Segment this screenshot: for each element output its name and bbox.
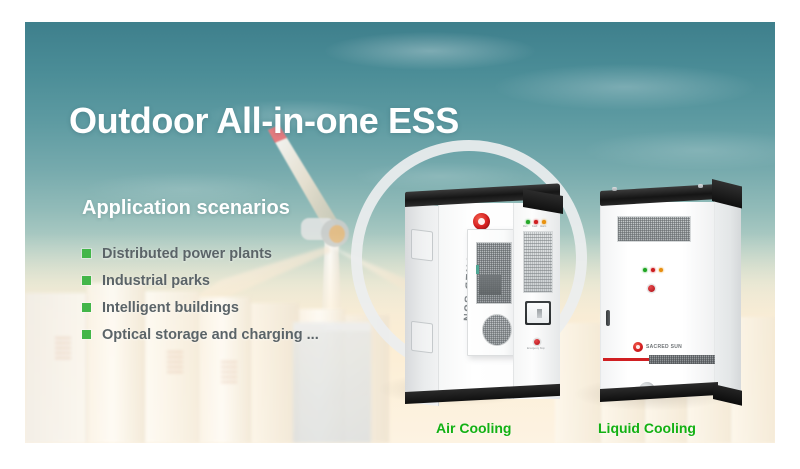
- status-led-fault: [651, 268, 655, 272]
- emergency-stop-button[interactable]: [534, 339, 540, 345]
- led-label-fault: Fault: [532, 225, 537, 228]
- status-led-run: [526, 220, 530, 224]
- product-label-air-cooling: Air Cooling: [436, 420, 511, 436]
- bullet-square-icon: [82, 249, 91, 258]
- cloud-decoration: [495, 64, 755, 110]
- list-item-label: Optical storage and charging ...: [102, 327, 319, 343]
- status-led-alarm: [542, 220, 546, 224]
- led-label-run: Run: [523, 225, 527, 228]
- product-banner: SACRED SUN Run Fault Alarm: [25, 22, 775, 443]
- list-item: Intelligent buildings: [82, 294, 319, 321]
- list-item-label: Distributed power plants: [102, 246, 272, 262]
- liquid-cabinet-vent-grille: [617, 216, 691, 242]
- bullet-square-icon: [82, 330, 91, 339]
- lifting-bolt-icon: [698, 184, 703, 188]
- air-cabinet-side-panel: [405, 202, 439, 406]
- cloud-decoration: [585, 130, 775, 170]
- list-item: Distributed power plants: [82, 240, 319, 267]
- liquid-cabinet-front-body: SACRED SUN: [600, 202, 715, 392]
- product-liquid-cooling-cabinet[interactable]: SACRED SUN: [600, 185, 740, 407]
- sacred-sun-logo-icon: [473, 213, 490, 230]
- ac-fan-icon: [482, 314, 512, 346]
- cloud-decoration: [325, 32, 535, 70]
- liquid-cabinet-brand-text: SACRED SUN: [646, 344, 682, 350]
- list-item: Industrial parks: [82, 267, 319, 294]
- lifting-bolt-icon: [612, 187, 617, 191]
- air-cabinet-display-screen[interactable]: [525, 301, 551, 325]
- status-led-alarm: [659, 268, 663, 272]
- bullet-square-icon: [82, 276, 91, 285]
- sacred-sun-logo-icon: [633, 342, 643, 352]
- page-title: Outdoor All-in-one ESS: [69, 100, 459, 142]
- emergency-stop-label: Emergency Stop: [527, 347, 545, 350]
- liquid-cabinet-door-handle[interactable]: [606, 310, 610, 326]
- air-cabinet-vent-grille: [523, 231, 553, 293]
- bullet-square-icon: [82, 303, 91, 312]
- liquid-cabinet-lower-vent: [649, 355, 715, 364]
- section-subtitle: Application scenarios: [82, 197, 290, 220]
- led-label-alarm: Alarm: [540, 225, 546, 228]
- list-item-label: Industrial parks: [102, 273, 210, 289]
- ac-grille-icon: [476, 242, 512, 304]
- product-label-liquid-cooling: Liquid Cooling: [598, 420, 696, 436]
- status-led-fault: [534, 220, 538, 224]
- application-scenarios-list: Distributed power plants Industrial park…: [82, 240, 319, 348]
- liquid-cabinet-side-panel: [714, 195, 741, 393]
- product-air-cooling-cabinet[interactable]: SACRED SUN Run Fault Alarm: [405, 192, 560, 404]
- list-item-label: Intelligent buildings: [102, 300, 239, 316]
- air-cabinet-control-panel[interactable]: Run Fault Alarm Emergency Stop: [513, 203, 560, 399]
- status-led-run: [643, 268, 647, 272]
- list-item: Optical storage and charging ...: [82, 321, 319, 348]
- emergency-stop-button[interactable]: [648, 285, 655, 292]
